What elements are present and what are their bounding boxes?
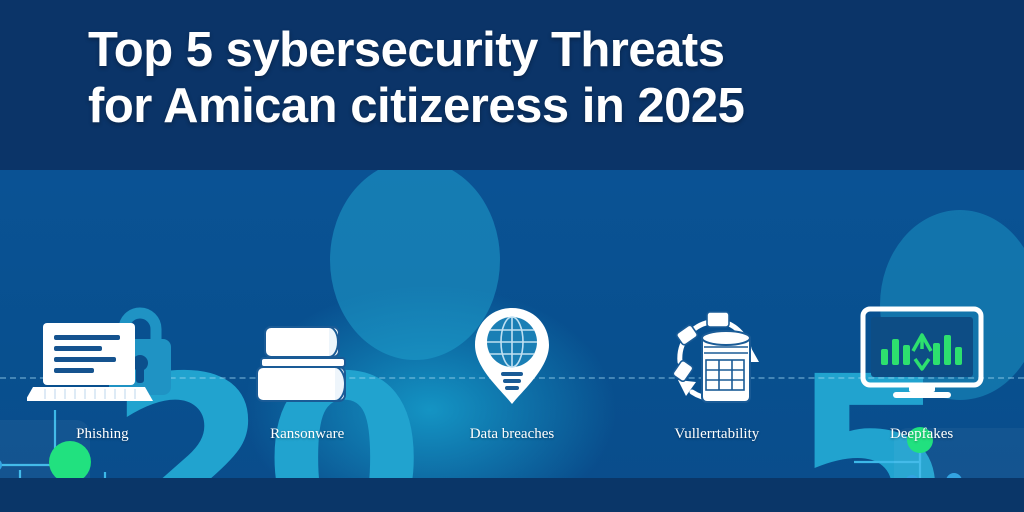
threats-row: Phishing Ransonware [0, 300, 1024, 480]
laptop-padlock-icon [27, 300, 177, 412]
header-band: Top 5 sybersecurity Threats for Amican c… [0, 0, 1024, 170]
threat-item-deepfakes[interactable]: Deepfakes [819, 300, 1024, 480]
threat-item-data-breaches[interactable]: Data breaches [410, 300, 615, 480]
stacked-books-icon [247, 300, 367, 412]
threat-label: Vullerrtability [674, 426, 759, 443]
monitor-chart-icon [857, 300, 987, 412]
globe-location-pin-icon [467, 300, 557, 412]
threat-label: Phishing [76, 426, 129, 443]
threat-item-ransomware[interactable]: Ransonware [205, 300, 410, 480]
threat-label: Data breaches [470, 426, 555, 443]
page-title: Top 5 sybersecurity Threats for Amican c… [88, 22, 948, 134]
page-title-line-2: for Amican citizeress in 2025 [88, 78, 948, 134]
database-refresh-icon [658, 300, 776, 412]
footer-band [0, 478, 1024, 512]
page-title-line-1: Top 5 sybersecurity Threats [88, 22, 948, 78]
threat-label: Deepfakes [890, 426, 953, 443]
threat-item-phishing[interactable]: Phishing [0, 300, 205, 480]
threat-item-vulnerability[interactable]: Vullerrtability [614, 300, 819, 480]
infographic-canvas: 20 5 [0, 0, 1024, 512]
threat-label: Ransonware [270, 426, 344, 443]
